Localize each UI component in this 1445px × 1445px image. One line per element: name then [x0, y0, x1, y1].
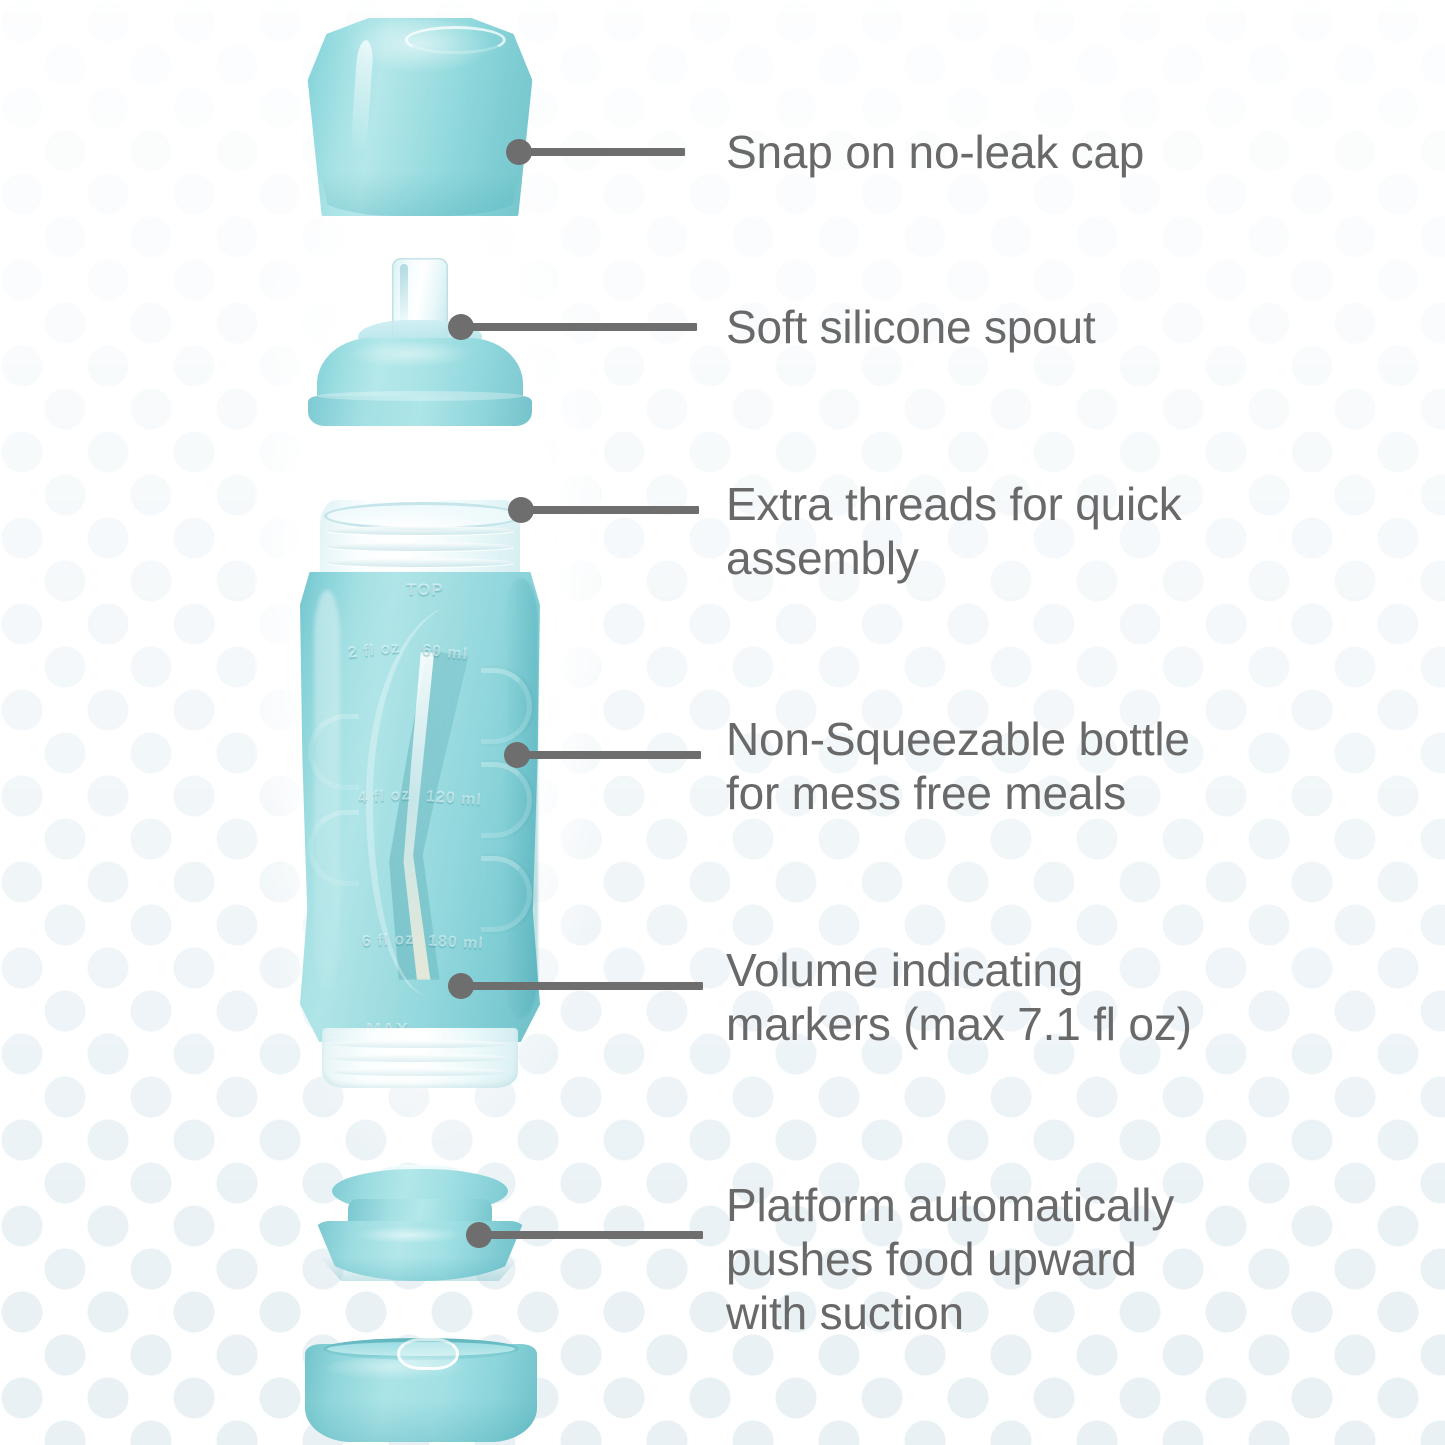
callout-label-spout: Soft silicone spout	[726, 301, 1096, 355]
bottle-thread	[326, 558, 514, 567]
callout-label-cap: Snap on no-leak cap	[726, 126, 1144, 180]
spout-base-ring	[308, 396, 532, 426]
bottle-left-highlight	[314, 590, 340, 990]
product-part-base-cup	[305, 1338, 537, 1445]
platform-highlight	[348, 1227, 468, 1243]
bottle-base-ring	[330, 1040, 510, 1048]
bottle-thread	[326, 542, 514, 551]
product-part-cap	[303, 16, 537, 216]
leader-bar-threads	[521, 506, 699, 514]
bottle-base-ring	[330, 1068, 510, 1076]
product-part-platform	[300, 1165, 540, 1290]
spout-collar-highlight	[340, 342, 480, 368]
product-part-spout	[300, 258, 540, 428]
callout-label-threads: Extra threads for quick assembly	[726, 478, 1182, 586]
infographic-canvas: TOP 2 fl oz 60 ml 4 fl oz 120 ml 6 fl oz…	[0, 0, 1445, 1445]
bottle-clear-base	[322, 1028, 518, 1088]
bottle-base-ring	[330, 1054, 510, 1062]
base-cup-highlight	[327, 1356, 487, 1380]
background-dot-pattern	[0, 0, 1445, 1445]
bottle-thread	[326, 526, 514, 535]
callout-label-bottle: Non-Squeezable bottle for mess free meal…	[726, 713, 1190, 821]
cap-bottom-shadow	[312, 172, 527, 216]
leader-bar-bottle	[517, 751, 701, 759]
base-cup-shadow	[305, 1400, 537, 1442]
platform-bottom-shadow	[316, 1257, 524, 1281]
callout-label-platform: Platform automatically pushes food upwar…	[726, 1179, 1174, 1340]
leader-bar-cap	[519, 148, 685, 156]
callout-label-volume: Volume indicating markers (max 7.1 fl oz…	[726, 944, 1192, 1052]
cap-top-rim-ellipse	[405, 26, 506, 54]
product-part-bottle: TOP 2 fl oz 60 ml 4 fl oz 120 ml 6 fl oz…	[300, 500, 540, 1088]
